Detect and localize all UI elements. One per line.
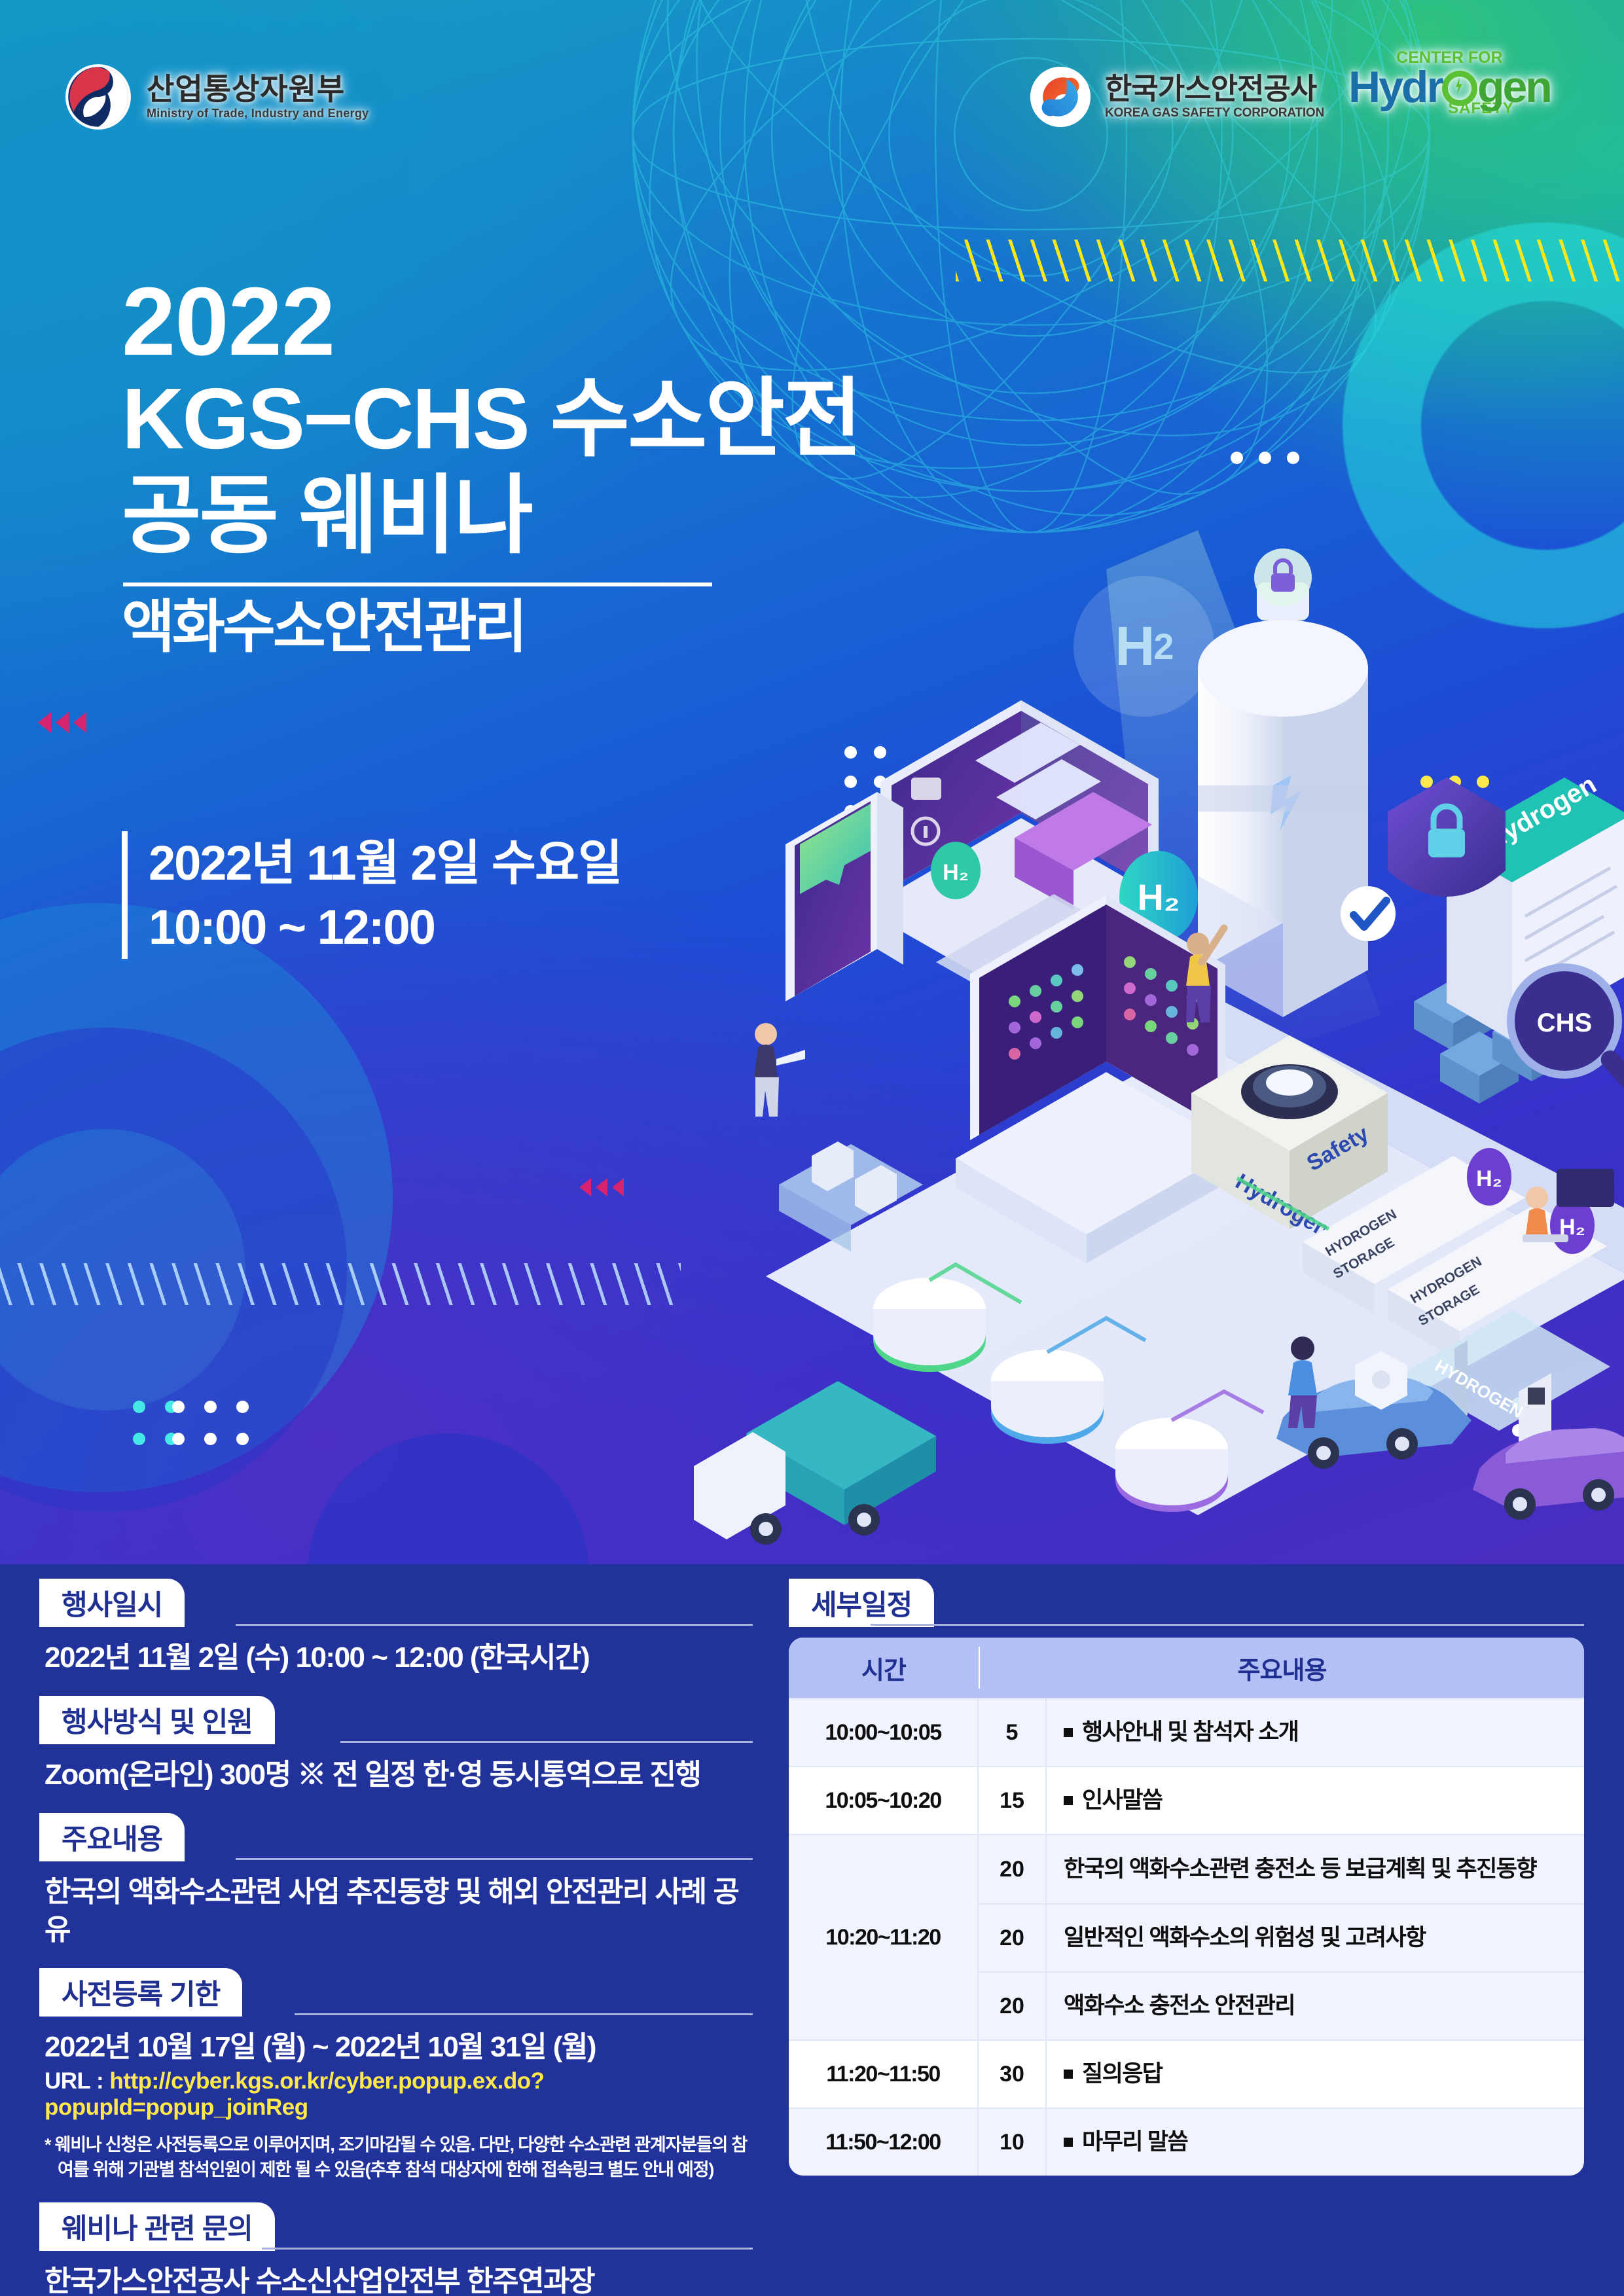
hero-date: 2022년 11월 2일 수요일 xyxy=(149,831,621,895)
row-minutes: 20 xyxy=(979,1905,1047,1971)
section-tag: 행사방식 및 인원 xyxy=(39,1696,275,1744)
row-topic: 인사말씀 xyxy=(1082,1785,1162,1816)
section-tag: 웨비나 관련 문의 xyxy=(39,2202,275,2251)
motie-name-en: Ministry of Trade, Industry and Energy xyxy=(147,107,369,120)
row-time: 10:05~10:20 xyxy=(789,1767,979,1834)
header-cell-time: 시간 xyxy=(789,1638,979,1698)
section-event-datetime: 행사일시 2022년 11월 2일 (수) 10:00 ~ 12:00 (한국시… xyxy=(39,1579,753,1676)
schedule-rule xyxy=(871,1624,1584,1626)
row-time: 10:00~10:05 xyxy=(789,1699,979,1766)
section-body: 한국의 액화수소관련 사업 추진동향 및 해외 안전관리 사례 공유 xyxy=(39,1861,753,1948)
header-label-time: 시간 xyxy=(861,1650,906,1686)
main-content-text: 한국의 액화수소관련 사업 추진동향 및 해외 안전관리 사례 공유 xyxy=(45,1873,748,1948)
shield-lock-icon xyxy=(1388,778,1506,897)
schedule-table-header: 시간 주요내용 xyxy=(789,1638,1584,1698)
section-rule xyxy=(262,2248,753,2250)
chs-word-hydr: Hydr xyxy=(1348,62,1442,112)
svg-text:H₂: H₂ xyxy=(1476,1166,1502,1191)
row-minutes: 20 xyxy=(979,1835,1047,1903)
row-minutes: 10 xyxy=(979,2109,1047,2176)
chs-wordmark: Hydr gen xyxy=(1348,66,1551,109)
section-tag-label: 웨비나 관련 문의 xyxy=(62,2206,253,2247)
row-topic-cell: 일반적인 액화수소의 위험성 및 고려사항 xyxy=(1047,1905,1584,1971)
row-topic-cell: 마무리 말씀 xyxy=(1047,2109,1584,2176)
row-topic-cell: 인사말씀 xyxy=(1047,1767,1584,1834)
footer-section: 행사일시 2022년 11월 2일 (수) 10:00 ~ 12:00 (한국시… xyxy=(0,1564,1624,2296)
section-rule xyxy=(236,1858,753,1860)
row-minutes: 5 xyxy=(979,1699,1047,1766)
bullet-icon xyxy=(1064,2070,1073,2079)
row-topic: 액화수소 충전소 안전관리 xyxy=(1064,1991,1295,2021)
table-row-group-merged-time: 10:20~11:20 20 한국의 액화수소관련 충전소 등 보급계획 및 추… xyxy=(789,1834,1584,2039)
person-standing-left xyxy=(754,1023,805,1117)
triangle-marker-lower xyxy=(579,1178,624,1196)
url-label: URL : xyxy=(45,2068,109,2094)
row-time: 11:20~11:50 xyxy=(789,2041,979,2108)
headline-year: 2022 xyxy=(122,274,860,370)
table-row: 20 한국의 액화수소관련 충전소 등 보급계획 및 추진동향 xyxy=(979,1835,1584,1903)
event-datetime-text: 2022년 11월 2일 (수) 10:00 ~ 12:00 (한국시간) xyxy=(45,1639,748,1676)
section-body: 2022년 10월 17일 (월) ~ 2022년 10월 31일 (월) UR… xyxy=(39,2017,753,2183)
chs-word-gen: gen xyxy=(1477,62,1551,112)
phone-illustration xyxy=(785,792,903,1001)
section-tag: 행사일시 xyxy=(39,1579,185,1627)
hero-datetime-block: 2022년 11월 2일 수요일 10:00 ~ 12:00 xyxy=(122,831,621,959)
header-cell-topic: 주요내용 xyxy=(980,1638,1584,1698)
chs-o-leaf-icon xyxy=(1442,71,1477,106)
footer-info-column: 행사일시 2022년 11월 2일 (수) 10:00 ~ 12:00 (한국시… xyxy=(39,1579,753,2296)
poster-root: 산업통상자원부 Ministry of Trade, Industry and … xyxy=(0,0,1624,2296)
schedule-table: 시간 주요내용 10:00~10:05 5 행사안내 및 참석자 소개 xyxy=(789,1638,1584,2176)
row-topic: 일반적인 액화수소의 위험성 및 고려사항 xyxy=(1064,1923,1426,1953)
registration-url-link[interactable]: http://cyber.kgs.or.kr/cyber.popup.ex.do… xyxy=(45,2068,545,2120)
table-row: 11:50~12:00 10 마무리 말씀 xyxy=(789,2108,1584,2176)
section-tag-label: 행사일시 xyxy=(62,1583,162,1623)
section-head: 사전등록 기한 xyxy=(39,1968,753,2017)
footer-schedule-column: 세부일정 시간 주요내용 10:00~10:05 5 xyxy=(789,1579,1584,2176)
row-topic-cell: 한국의 액화수소관련 충전소 등 보급계획 및 추진동향 xyxy=(1047,1835,1584,1903)
section-head: 행사일시 xyxy=(39,1579,753,1627)
hero-time: 10:00 ~ 12:00 xyxy=(149,895,621,960)
dot-row-decoration-cyan xyxy=(133,1401,177,1445)
row-time: 11:50~12:00 xyxy=(789,2109,979,2176)
row-minutes: 15 xyxy=(979,1767,1047,1834)
section-body: Zoom(온라인) 300명 ※ 전 일정 한·영 동시통역으로 진행 xyxy=(39,1744,753,1793)
kgs-wordmark: 한국가스안전공사 KOREA GAS SAFETY CORPORATION xyxy=(1105,74,1324,120)
bullet-icon xyxy=(1064,2138,1073,2147)
logo-center-for-hydrogen-safety: CENTER FOR Hydr gen SAFETY xyxy=(1348,50,1551,118)
dot-pair-decoration-top-right xyxy=(1231,452,1299,464)
dot-row-decoration-white xyxy=(172,1401,249,1445)
headline-line2: KGS−CHS 수소안전 xyxy=(122,370,860,467)
section-tag: 주요내용 xyxy=(39,1813,185,1861)
svg-text:H₂: H₂ xyxy=(943,860,969,885)
registration-url-row: URL : http://cyber.kgs.or.kr/cyber.popup… xyxy=(45,2068,748,2121)
headline-divider xyxy=(123,583,712,586)
schedule-head: 세부일정 xyxy=(789,1579,1584,1627)
table-row: 10:05~10:20 15 인사말씀 xyxy=(789,1766,1584,1834)
section-head: 웨비나 관련 문의 xyxy=(39,2202,753,2251)
contact-person-text: 한국가스안전공사 수소신산업안전부 한주연과장 xyxy=(45,2263,748,2296)
table-row: 20 일반적인 액화수소의 위험성 및 고려사항 xyxy=(979,1903,1584,1971)
check-badge-icon xyxy=(1341,886,1396,941)
group-subrows: 20 한국의 액화수소관련 충전소 등 보급계획 및 추진동향 20 일반적인 … xyxy=(979,1835,1584,2039)
row-topic-cell: 행사안내 및 참석자 소개 xyxy=(1047,1699,1584,1766)
section-rule xyxy=(340,1741,753,1743)
kgs-symbol-icon xyxy=(1029,65,1092,128)
row-minutes: 30 xyxy=(979,2041,1047,2108)
section-tag: 사전등록 기한 xyxy=(39,1968,242,2017)
motie-name-ko: 산업통상자원부 xyxy=(147,73,369,105)
section-body: 한국가스안전공사 수소신산업안전부 한주연과장 TEL. 043-750-106… xyxy=(39,2251,753,2296)
row-topic-cell: 질의응답 xyxy=(1047,2041,1584,2108)
car-purple xyxy=(1473,1428,1624,1520)
section-body: 2022년 11월 2일 (수) 10:00 ~ 12:00 (한국시간) xyxy=(39,1627,753,1676)
row-topic: 행사안내 및 참석자 소개 xyxy=(1082,1717,1298,1748)
section-rule xyxy=(236,1624,753,1626)
triangle-marker-subtitle xyxy=(38,712,86,733)
section-registration: 사전등록 기한 2022년 10월 17일 (월) ~ 2022년 10월 31… xyxy=(39,1968,753,2183)
table-row: 20 액화수소 충전소 안전관리 xyxy=(979,1971,1584,2039)
group-time: 10:20~11:20 xyxy=(789,1835,979,2039)
section-head: 주요내용 xyxy=(39,1813,753,1861)
registration-note: * 웨비나 신청은 사전등록으로 이루어지며, 조기마감될 수 있음. 다만, … xyxy=(45,2132,748,2183)
registration-period-text: 2022년 10월 17일 (월) ~ 2022년 10월 31일 (월) xyxy=(45,2028,748,2066)
table-row: 10:00~10:05 5 행사안내 및 참석자 소개 xyxy=(789,1698,1584,1766)
kgs-name-en: KOREA GAS SAFETY CORPORATION xyxy=(1105,106,1324,120)
magnifier-chs-icon: CHS xyxy=(1511,967,1624,1109)
hydrogen-truck xyxy=(694,1381,936,1545)
hero-illustration: H₂ H₂ xyxy=(740,504,1624,1564)
hero-section: 산업통상자원부 Ministry of Trade, Industry and … xyxy=(0,0,1624,1564)
logo-motie: 산업통상자원부 Ministry of Trade, Industry and … xyxy=(64,63,369,131)
row-topic: 질의응답 xyxy=(1082,2059,1162,2089)
section-tag-label: 사전등록 기한 xyxy=(62,1972,220,2013)
row-topic: 한국의 액화수소관련 충전소 등 보급계획 및 추진동향 xyxy=(1064,1854,1536,1884)
section-tag-label: 행사방식 및 인원 xyxy=(62,1700,253,1740)
bullet-icon xyxy=(1064,1796,1073,1805)
circle-decoration-blue xyxy=(308,1433,589,1564)
svg-text:CHS: CHS xyxy=(1537,1009,1592,1037)
logo-row: 산업통상자원부 Ministry of Trade, Industry and … xyxy=(0,0,1624,164)
schedule-tag: 세부일정 xyxy=(789,1579,934,1627)
bullet-icon xyxy=(1064,1728,1073,1737)
section-contact: 웨비나 관련 문의 한국가스안전공사 수소신산업안전부 한주연과장 TEL. 0… xyxy=(39,2202,753,2296)
table-row: 11:20~11:50 30 질의응답 xyxy=(789,2039,1584,2108)
kgs-name-ko: 한국가스안전공사 xyxy=(1105,74,1324,103)
row-minutes: 20 xyxy=(979,1973,1047,2039)
section-tag-label: 주요내용 xyxy=(62,1817,162,1857)
row-topic-cell: 액화수소 충전소 안전관리 xyxy=(1047,1973,1584,2039)
motie-wordmark: 산업통상자원부 Ministry of Trade, Industry and … xyxy=(147,73,369,120)
motie-taegeuk-icon xyxy=(64,63,132,131)
section-format-capacity: 행사방식 및 인원 Zoom(온라인) 300명 ※ 전 일정 한·영 동시통역… xyxy=(39,1696,753,1793)
logo-kgs: 한국가스안전공사 KOREA GAS SAFETY CORPORATION xyxy=(1029,65,1324,128)
row-topic: 마무리 말씀 xyxy=(1082,2127,1187,2157)
schedule-tag-label: 세부일정 xyxy=(811,1583,912,1623)
header-label-topic: 주요내용 xyxy=(1238,1650,1327,1686)
section-rule xyxy=(295,2013,753,2015)
section-head: 행사방식 및 인원 xyxy=(39,1696,753,1744)
section-main-content: 주요내용 한국의 액화수소관련 사업 추진동향 및 해외 안전관리 사례 공유 xyxy=(39,1813,753,1948)
format-capacity-text: Zoom(온라인) 300명 ※ 전 일정 한·영 동시통역으로 진행 xyxy=(45,1756,748,1793)
svg-text:H₂: H₂ xyxy=(1137,876,1180,918)
